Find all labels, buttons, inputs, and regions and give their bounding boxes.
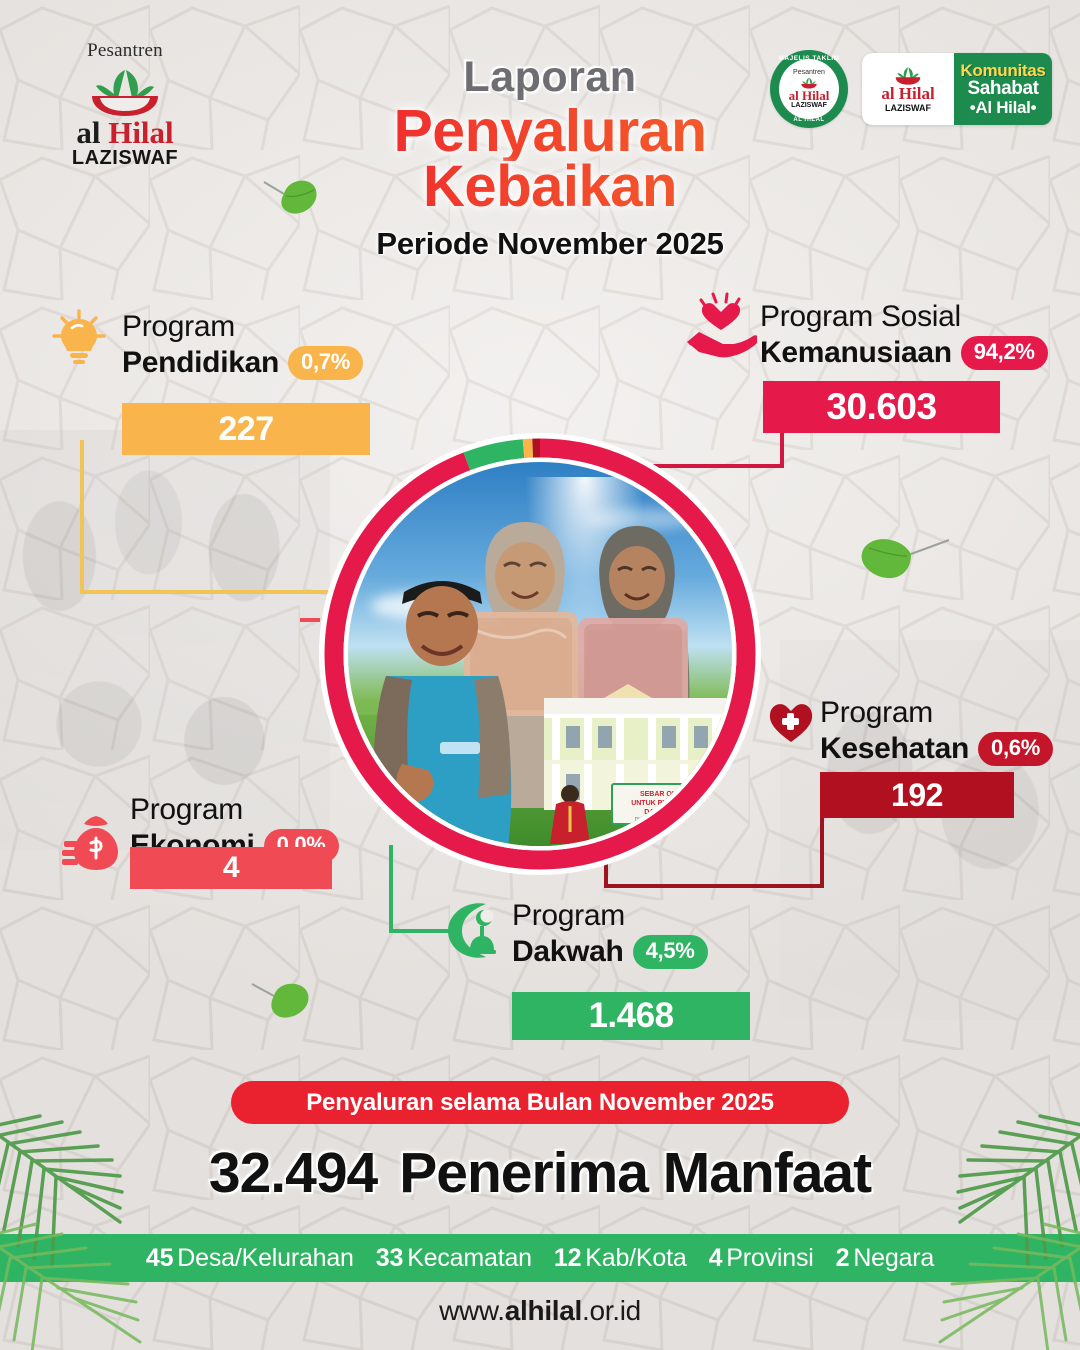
money-bag-icon — [62, 812, 128, 874]
program-sosial-label: Program Sosial Kemanusiaan94,2% — [760, 300, 1048, 370]
badge-top-text: MAJELIS TAKLIM — [770, 55, 848, 62]
stat-label: Provinsi — [726, 1244, 813, 1272]
website-footer[interactable]: www.alhilal.or.id — [0, 1295, 1080, 1327]
program-label-line1: Program — [130, 793, 339, 827]
program-pendidikan-value: 227 — [122, 403, 370, 455]
badge-brand-name: al Hilal — [881, 85, 934, 103]
program-kesehatan-value: 192 — [820, 772, 1014, 818]
program-label-line2: Kemanusiaan — [760, 336, 952, 370]
stat-item: 4Provinsi — [709, 1244, 814, 1273]
stat-number: 2 — [836, 1244, 850, 1272]
program-percent-badge: 94,2% — [961, 336, 1048, 370]
banner-group: SEBAR QURAN UNTUK PESANTREN DAN MASJID D… — [544, 776, 732, 846]
summary-pill: Penyaluran selama Bulan November 2025 — [231, 1081, 849, 1124]
program-sosial-value: 30.603 — [763, 381, 1000, 433]
title-line-1: Penyaluran — [300, 103, 800, 161]
program-label-line1: Program — [122, 310, 363, 344]
program-label-line1: Program Sosial — [760, 300, 1048, 334]
leaf-decoration-icon — [845, 520, 955, 590]
badge-brand-name: al Hilal — [789, 89, 830, 103]
program-percent-badge: 4,5% — [633, 935, 708, 969]
program-pendidikan-label: Program Pendidikan0,7% — [122, 310, 363, 380]
title-eyebrow: Laporan — [300, 56, 800, 99]
program-kesehatan-label: Program Kesehatan0,6% — [820, 696, 1053, 766]
coverage-stats-bar: 45Desa/Kelurahan 33Kecamatan 12Kab/Kota … — [0, 1234, 1080, 1282]
program-label-line2: Kesehatan — [820, 732, 969, 766]
svg-text:DAN MASJID: DAN MASJID — [644, 809, 688, 816]
hand-heart-icon — [685, 290, 757, 362]
lightbulb-icon — [48, 306, 110, 368]
program-dakwah-value: 1.468 — [512, 992, 750, 1040]
stat-number: 45 — [146, 1244, 173, 1272]
program-label-line1: Program — [512, 899, 708, 933]
leaf-in-bowl-logo-icon — [799, 76, 819, 89]
leaf-in-bowl-logo-icon — [40, 64, 210, 116]
value-text: 192 — [891, 777, 943, 814]
program-ekonomi-value: 4 — [130, 847, 332, 889]
stat-label: Kab/Kota — [585, 1244, 686, 1272]
person-left-boy — [362, 554, 522, 846]
value-text: 227 — [218, 410, 273, 449]
total-beneficiaries: 32.494Penerima Manfaat — [0, 1140, 1080, 1206]
logo-brand-name: al Hilal — [40, 117, 210, 148]
crescent-mosque-icon — [440, 898, 502, 960]
background-photo-left — [0, 430, 330, 850]
stat-number: 33 — [376, 1244, 403, 1272]
page-title: Laporan Penyaluran Kebaikan Periode Nove… — [300, 56, 800, 262]
logo-subtitle: LAZISWAF — [40, 148, 210, 169]
infographic-canvas: Pesantren al Hilal LAZISWAF Laporan Peny… — [0, 0, 1080, 1350]
program-photo-collage: SEBAR QURAN UNTUK PESANTREN DAN MASJID D… — [348, 462, 732, 846]
value-text: 30.603 — [826, 386, 936, 428]
site-tld: .or.id — [582, 1295, 641, 1326]
komunitas-sahabat-al-hilal-badge: al Hilal LAZISWAF Komunitas Sahabat •Al … — [862, 53, 1052, 125]
program-label-line1: Program — [820, 696, 1053, 730]
majelis-taklim-badge: MAJELIS TAKLIM AL HILAL Pesantren al Hil… — [770, 50, 848, 128]
badge-brand-sub: LAZISWAF — [791, 102, 827, 109]
logo-pesantren-text: Pesantren — [40, 40, 210, 62]
svg-text:SEBAR QURAN: SEBAR QURAN — [640, 791, 692, 798]
program-percent-badge: 0,7% — [288, 346, 363, 380]
leaf-in-bowl-logo-icon — [892, 65, 924, 85]
program-label-line2: Pendidikan — [122, 346, 279, 380]
badge-alhilal-text: •Al Hilal• — [970, 99, 1037, 117]
title-line-2: Kebaikan — [300, 159, 800, 216]
stat-item: 45Desa/Kelurahan — [146, 1244, 354, 1273]
total-number: 32.494 — [209, 1141, 377, 1205]
stat-label: Negara — [853, 1244, 934, 1272]
stat-item: 33Kecamatan — [376, 1244, 532, 1273]
title-period: Periode November 2025 — [300, 226, 800, 262]
badge-sahabat-text: Sahabat — [967, 79, 1038, 99]
total-label: Penerima Manfaat — [399, 1141, 871, 1205]
badge-komunitas-text: Komunitas — [960, 62, 1045, 79]
site-www: www. — [439, 1295, 505, 1326]
stat-label: Kecamatan — [407, 1244, 532, 1272]
badge-group: MAJELIS TAKLIM AL HILAL Pesantren al Hil… — [770, 50, 1052, 128]
program-dakwah-label: Program Dakwah4,5% — [512, 899, 708, 969]
value-text: 4 — [223, 851, 239, 885]
badge-bottom-text: AL HILAL — [770, 117, 848, 123]
svg-text:DI PELOSOK JAWA BARAT: DI PELOSOK JAWA BARAT — [635, 817, 698, 823]
badge-pesantren-text: Pesantren — [793, 69, 825, 76]
badge-brand-sub: LAZISWAF — [885, 103, 931, 113]
stat-number: 4 — [709, 1244, 723, 1272]
stat-item: 2Negara — [836, 1244, 935, 1273]
program-percent-badge: 0,6% — [978, 732, 1053, 766]
program-label-line2: Dakwah — [512, 935, 624, 969]
stat-item: 12Kab/Kota — [554, 1244, 687, 1273]
site-name: alhilal — [505, 1295, 582, 1326]
leaf-decoration-icon — [248, 972, 328, 1032]
stat-number: 12 — [554, 1244, 581, 1272]
heart-plus-icon — [768, 700, 814, 744]
svg-text:UNTUK PESANTREN: UNTUK PESANTREN — [631, 800, 701, 807]
value-text: 1.468 — [588, 996, 673, 1036]
brand-logo: Pesantren al Hilal LAZISWAF — [40, 40, 210, 169]
stat-label: Desa/Kelurahan — [177, 1244, 354, 1272]
donut-chart: SEBAR QURAN UNTUK PESANTREN DAN MASJID D… — [318, 432, 762, 876]
summary-pill-text: Penyaluran selama Bulan November 2025 — [306, 1089, 774, 1117]
